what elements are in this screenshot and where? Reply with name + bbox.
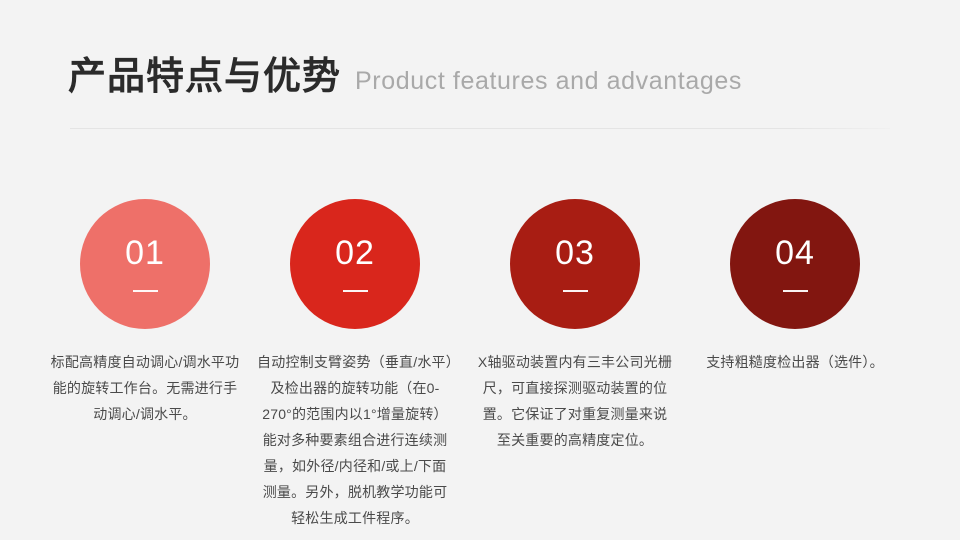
number-badge-01: 01 — [80, 199, 210, 329]
badge-underline-dash — [343, 290, 368, 292]
badge-number-label: 03 — [555, 236, 595, 270]
slide-root: 产品特点与优势 Product features and advantages … — [0, 0, 960, 540]
page-header: 产品特点与优势 Product features and advantages — [68, 58, 742, 96]
badge-number-label: 01 — [125, 236, 165, 270]
feature-column-04: 04 支持粗糙度检出器（选件）。 — [690, 199, 900, 531]
header-divider — [70, 128, 890, 129]
feature-description-03: X轴驱动装置内有三丰公司光栅尺，可直接探测驱动装置的位置。它保证了对重复测量来说… — [477, 349, 673, 453]
badge-number-label: 02 — [335, 236, 375, 270]
feature-columns: 01 标配高精度自动调心/调水平功能的旋转工作台。无需进行手动调心/调水平。 0… — [0, 199, 960, 531]
number-badge-03: 03 — [510, 199, 640, 329]
feature-column-01: 01 标配高精度自动调心/调水平功能的旋转工作台。无需进行手动调心/调水平。 — [40, 199, 250, 531]
feature-description-01: 标配高精度自动调心/调水平功能的旋转工作台。无需进行手动调心/调水平。 — [47, 349, 243, 427]
feature-description-04: 支持粗糙度检出器（选件）。 — [688, 349, 903, 375]
page-subtitle: Product features and advantages — [355, 69, 742, 94]
feature-column-02: 02 自动控制支臂姿势（垂直/水平）及检出器的旋转功能（在0-270°的范围内以… — [250, 199, 460, 531]
number-badge-04: 04 — [730, 199, 860, 329]
page-title: 产品特点与优势 — [68, 58, 341, 96]
number-badge-02: 02 — [290, 199, 420, 329]
badge-underline-dash — [563, 290, 588, 292]
badge-underline-dash — [783, 290, 808, 292]
badge-underline-dash — [133, 290, 158, 292]
badge-number-label: 04 — [775, 236, 815, 270]
feature-description-02: 自动控制支臂姿势（垂直/水平）及检出器的旋转功能（在0-270°的范围内以1°增… — [257, 349, 453, 531]
feature-column-03: 03 X轴驱动装置内有三丰公司光栅尺，可直接探测驱动装置的位置。它保证了对重复测… — [470, 199, 680, 531]
